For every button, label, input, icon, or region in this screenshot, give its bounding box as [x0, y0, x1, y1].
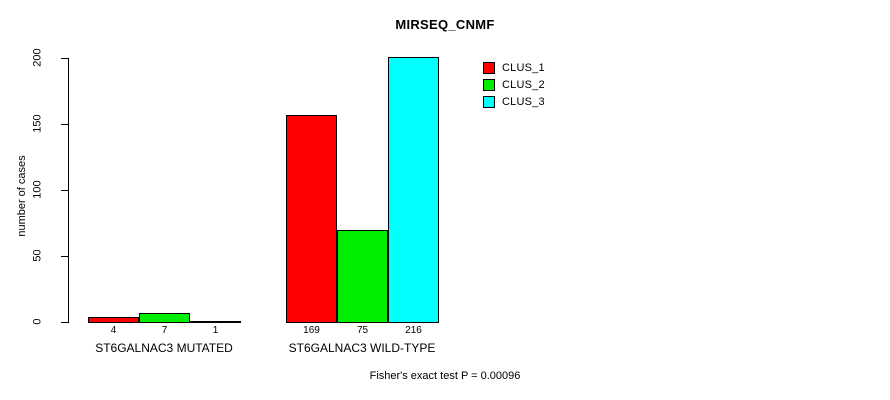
- legend-label-clus2: CLUS_2: [502, 79, 545, 91]
- group-label-mutated: ST6GALNAC3 MUTATED: [49, 341, 279, 355]
- bar-mutated-clus3[interactable]: [190, 321, 241, 323]
- y-tick-0: [61, 322, 68, 323]
- legend-item-clus2[interactable]: CLUS_2: [483, 77, 545, 93]
- y-tick-label-0-wrap: 0: [19, 316, 55, 328]
- bar-wildtype-clus2[interactable]: [337, 230, 388, 323]
- bar-value-wildtype-clus3: 216: [388, 325, 439, 337]
- y-tick-label-0: 0: [33, 305, 44, 339]
- y-tick-label-100: 100: [33, 173, 44, 207]
- y-tick-100: [61, 190, 68, 191]
- bar-value-mutated-clus2: 7: [139, 325, 190, 337]
- bar-wildtype-clus1[interactable]: [286, 115, 337, 323]
- y-tick-label-150-wrap: 150: [19, 118, 55, 130]
- bar-value-mutated-clus3: 1: [190, 325, 241, 337]
- y-axis-title: number of cases: [16, 136, 28, 256]
- bar-value-wildtype-clus1: 169: [286, 325, 337, 337]
- chart-canvas: MIRSEQ_CNMF 0 50 100 150 200 number of c…: [0, 0, 890, 400]
- y-axis-line: [68, 58, 69, 323]
- legend: CLUS_1 CLUS_2 CLUS_3: [483, 60, 545, 111]
- bar-value-wildtype-clus2: 75: [337, 325, 388, 337]
- bar-mutated-clus1[interactable]: [88, 317, 139, 323]
- group-label-wildtype: ST6GALNAC3 WILD-TYPE: [247, 341, 477, 355]
- legend-item-clus1[interactable]: CLUS_1: [483, 60, 545, 76]
- y-tick-label-200: 200: [33, 41, 44, 75]
- bar-mutated-clus2[interactable]: [139, 313, 190, 323]
- y-tick-label-50: 50: [33, 239, 44, 273]
- legend-swatch-clus3: [483, 96, 495, 108]
- bar-wildtype-clus3[interactable]: [388, 57, 439, 323]
- y-tick-150: [61, 124, 68, 125]
- legend-label-clus1: CLUS_1: [502, 62, 545, 74]
- legend-item-clus3[interactable]: CLUS_3: [483, 94, 545, 110]
- y-tick-label-150: 150: [33, 107, 44, 141]
- legend-swatch-clus1: [483, 62, 495, 74]
- y-tick-50: [61, 256, 68, 257]
- legend-swatch-clus2: [483, 79, 495, 91]
- fisher-test-annotation: Fisher's exact test P = 0.00096: [0, 370, 890, 382]
- y-tick-200: [61, 58, 68, 59]
- y-tick-label-200-wrap: 200: [19, 52, 55, 64]
- plot-area: 0 50 100 150 200 number of cases 4 7 1 S…: [0, 0, 890, 400]
- legend-label-clus3: CLUS_3: [502, 96, 545, 108]
- bar-value-mutated-clus1: 4: [88, 325, 139, 337]
